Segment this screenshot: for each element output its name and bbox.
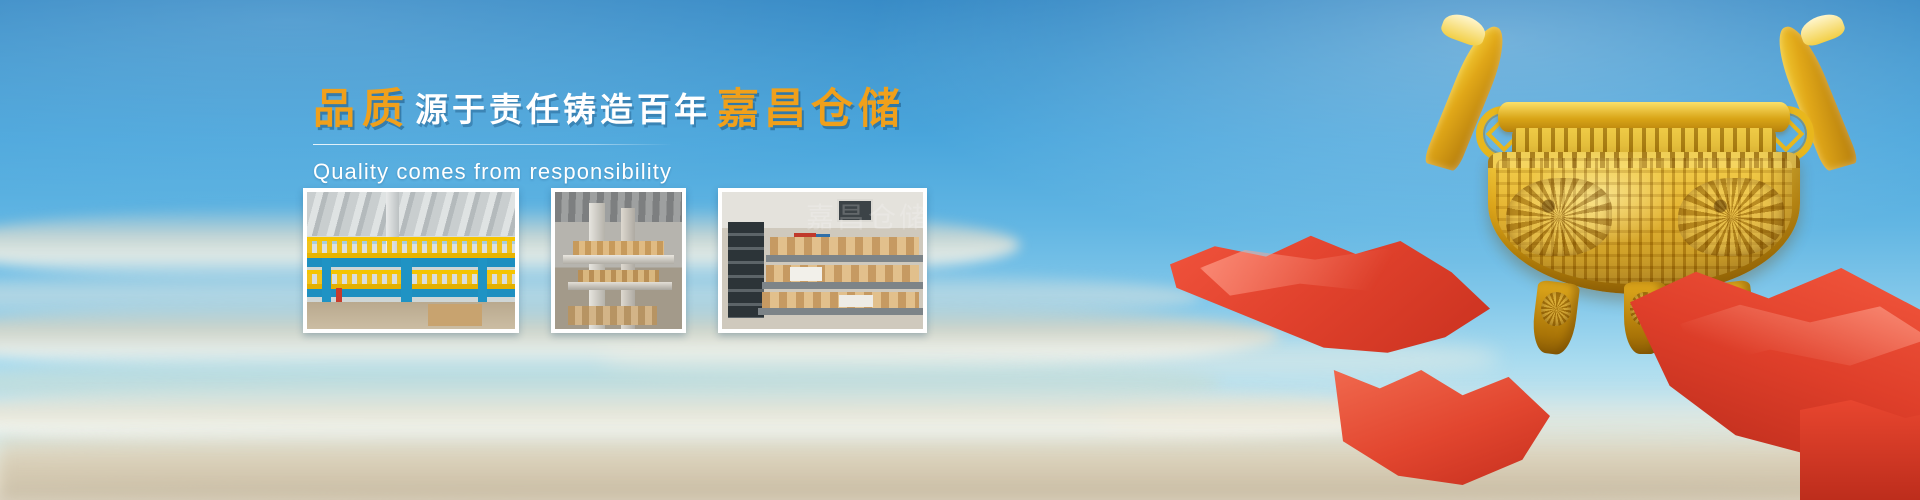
ding-neck-band xyxy=(1512,128,1776,158)
ding-handle-left xyxy=(1422,22,1513,172)
banner-subtitle: Quality comes from responsibility xyxy=(313,159,913,185)
ding-artwork xyxy=(1160,0,1920,500)
chinese-coin-icon xyxy=(1476,106,1532,162)
sky-gradient xyxy=(0,0,1920,500)
ding-rim xyxy=(1498,102,1790,132)
headline-middle: 源于责任铸造百年 xyxy=(411,93,717,126)
red-ribbon-right xyxy=(1630,268,1920,458)
ding-legs xyxy=(1532,282,1756,356)
ding-body xyxy=(1488,152,1800,294)
photo-thumbnail-shelving[interactable] xyxy=(718,188,927,333)
red-ribbon-lower xyxy=(1320,370,1550,485)
ding-handle-tip-left xyxy=(1439,9,1489,48)
banner-copy: 品质 源于责任铸造百年 嘉昌仓储 Quality comes from resp… xyxy=(313,88,913,185)
banner-headline: 品质 源于责任铸造百年 嘉昌仓储 xyxy=(313,88,913,130)
ding-handle-tip-right xyxy=(1797,9,1847,48)
carton-shelving-image xyxy=(722,192,923,329)
cloud-band xyxy=(1100,392,1920,452)
red-ribbon-left xyxy=(1170,228,1490,358)
cloud-band xyxy=(0,352,1220,414)
dragon-relief-left xyxy=(1506,178,1612,256)
warehouse-mezzanine-image xyxy=(307,192,515,329)
ding-leg xyxy=(1624,282,1666,354)
dragon-relief-right xyxy=(1678,178,1784,256)
ding-leg xyxy=(1530,280,1580,357)
ding-handle-right xyxy=(1768,22,1859,172)
chinese-coin-icon xyxy=(1758,106,1814,162)
photo-gallery xyxy=(303,188,927,333)
cloud-band xyxy=(0,430,1920,500)
cloud-band xyxy=(0,382,1420,452)
headline-accent-lead: 品质 xyxy=(313,88,411,130)
golden-ding-cauldron xyxy=(1428,14,1858,354)
cantilever-rack-image xyxy=(555,192,682,329)
red-ribbon-highlight xyxy=(1200,244,1450,304)
photo-thumbnail-cantilever[interactable] xyxy=(551,188,686,333)
cloud-band xyxy=(600,330,1500,386)
hero-banner: 品质 源于责任铸造百年 嘉昌仓储 Quality comes from resp… xyxy=(0,0,1920,500)
photo-thumbnail-mezzanine[interactable] xyxy=(303,188,519,333)
headline-accent-brand: 嘉昌仓储 xyxy=(717,88,905,130)
ground-haze xyxy=(0,428,1920,500)
ding-leg xyxy=(1708,280,1758,357)
headline-divider xyxy=(313,144,673,145)
red-ribbon-far-right xyxy=(1800,400,1920,500)
red-ribbon-highlight xyxy=(1680,300,1920,380)
